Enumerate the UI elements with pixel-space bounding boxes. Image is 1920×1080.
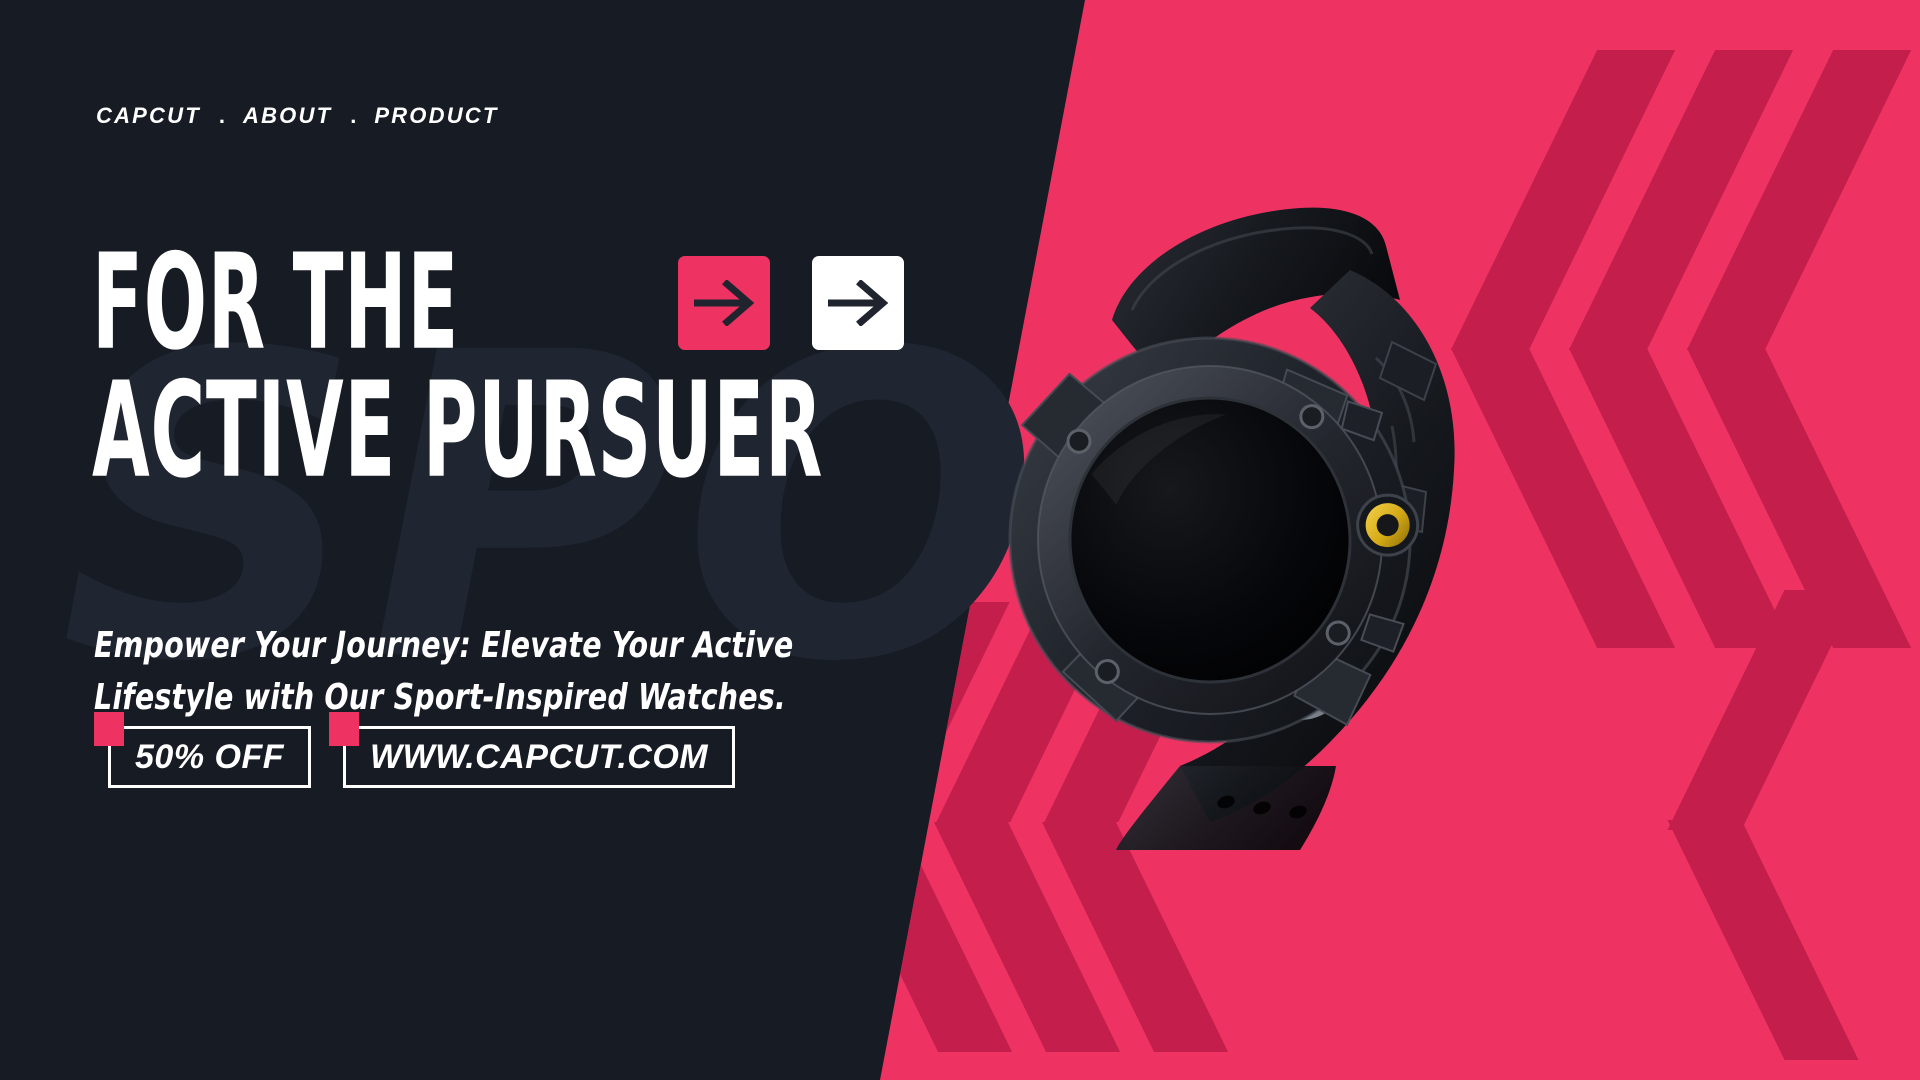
nav-separator: . — [350, 103, 356, 129]
primary-arrow-button[interactable] — [678, 256, 770, 350]
pink-corner-marker — [94, 712, 124, 746]
cta-row: 50% OFF WWW.CAPCUT.COM — [94, 712, 735, 788]
nav-item-about[interactable]: ABOUT — [243, 103, 332, 129]
discount-badge-wrap: 50% OFF — [94, 712, 311, 788]
headline-block: FOR THE — [92, 250, 1080, 485]
nav-item-capcut[interactable]: CAPCUT — [96, 103, 201, 129]
promo-banner: SPO CAPCUT . ABOUT . PRODUCT FOR THE — [0, 0, 1920, 1080]
arrow-button-group — [678, 256, 904, 350]
discount-label: 50% OFF — [135, 738, 284, 777]
discount-badge[interactable]: 50% OFF — [108, 726, 311, 788]
nav-item-product[interactable]: PRODUCT — [374, 103, 498, 129]
top-navigation: CAPCUT . ABOUT . PRODUCT — [96, 103, 499, 129]
arrow-right-icon — [694, 280, 754, 326]
pink-corner-marker — [329, 712, 359, 746]
website-label: WWW.CAPCUT.COM — [370, 738, 708, 777]
headline-line-1: FOR THE — [92, 240, 459, 366]
arrow-right-icon — [828, 280, 888, 326]
secondary-arrow-button[interactable] — [812, 256, 904, 350]
headline-row-one: FOR THE — [92, 250, 1080, 356]
subcopy-block: Empower Your Journey: Elevate Your Activ… — [94, 620, 793, 724]
chevron-shape — [1667, 820, 1858, 1060]
subcopy-line-1: Empower Your Journey: Elevate Your Activ… — [94, 620, 793, 672]
nav-separator: . — [219, 103, 225, 129]
website-badge-wrap: WWW.CAPCUT.COM — [329, 712, 735, 788]
website-badge[interactable]: WWW.CAPCUT.COM — [343, 726, 735, 788]
headline-line-2: ACTIVE PURSUER — [92, 369, 823, 495]
